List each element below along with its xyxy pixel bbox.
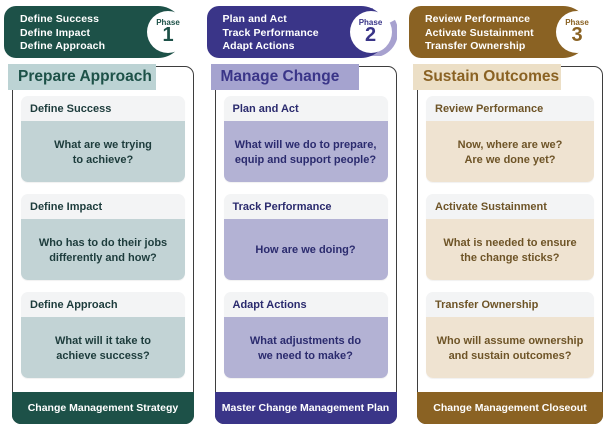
phase-3-card-2-head: Activate Sustainment: [426, 194, 594, 219]
phase-1-card-1-head: Define Success: [21, 96, 185, 121]
phase-3-card-1: Review Performance Now, where are we?Are…: [426, 96, 594, 182]
phase-column-1: Define Success Define Impact Define Appr…: [4, 6, 196, 424]
phase-1-footer: Change Management Strategy: [12, 392, 194, 424]
phase-2-badge-number: 2: [365, 25, 376, 45]
phase-3-footer: Change Management Closeout: [417, 392, 603, 424]
phase-3-card-3-body: Who will assume ownershipand sustain out…: [426, 317, 594, 378]
phase-1-card-list: Define Success What are we tryingto achi…: [21, 96, 185, 378]
phase-2-card-3: Adapt Actions What adjustments dowe need…: [224, 292, 388, 378]
phase-3-card-list: Review Performance Now, where are we?Are…: [426, 96, 594, 378]
phase-2-card-2-body: How are we doing?: [224, 219, 388, 280]
phase-1-card-1-body: What are we tryingto achieve?: [21, 121, 185, 182]
phase-1-card-2: Define Impact Who has to do their jobsdi…: [21, 194, 185, 280]
phase-1-card-3: Define Approach What will it take toachi…: [21, 292, 185, 378]
phase-3-title-strip: Sustain Outcomes: [413, 64, 561, 90]
phase-column-2: Plan and Act Track Performance Adapt Act…: [207, 6, 399, 424]
phase-column-3: Review Performance Activate Sustainment …: [409, 6, 605, 424]
phase-3-card-1-body: Now, where are we?Are we done yet?: [426, 121, 594, 182]
phase-1-card-1: Define Success What are we tryingto achi…: [21, 96, 185, 182]
phase-2-card-2-head: Track Performance: [224, 194, 388, 219]
phase-2-card-1: Plan and Act What will we do to prepare,…: [224, 96, 388, 182]
phase-1-card-3-head: Define Approach: [21, 292, 185, 317]
phase-2-card-1-body: What will we do to prepare,equip and sup…: [224, 121, 388, 182]
phase-2-card-1-head: Plan and Act: [224, 96, 388, 121]
phase-2-footer: Master Change Management Plan: [215, 392, 397, 424]
phase-2-badge: Phase 2: [350, 11, 392, 53]
phase-2-card-3-body: What adjustments dowe need to make?: [224, 317, 388, 378]
change-management-phases-diagram: Define Success Define Impact Define Appr…: [0, 0, 609, 433]
phase-3-badge-number: 3: [571, 25, 582, 45]
phase-1-badge-number: 1: [162, 25, 173, 45]
phase-2-title-strip: Manage Change: [211, 64, 359, 90]
phase-2-title: Manage Change: [221, 68, 340, 86]
phase-3-card-2: Activate Sustainment What is needed to e…: [426, 194, 594, 280]
phase-3-title: Sustain Outcomes: [423, 68, 559, 86]
phase-2-card-2: Track Performance How are we doing?: [224, 194, 388, 280]
phase-1-title-strip: Prepare Approach: [8, 64, 156, 90]
phase-3-badge: Phase 3: [556, 11, 598, 53]
phase-3-card-2-body: What is needed to ensurethe change stick…: [426, 219, 594, 280]
phase-1-card-2-head: Define Impact: [21, 194, 185, 219]
phase-1-card-2-body: Who has to do their jobsdifferently and …: [21, 219, 185, 280]
phase-2-card-3-head: Adapt Actions: [224, 292, 388, 317]
phase-3-card-3-head: Transfer Ownership: [426, 292, 594, 317]
phase-3-card-1-head: Review Performance: [426, 96, 594, 121]
phase-1-badge: Phase 1: [147, 11, 189, 53]
phase-1-title: Prepare Approach: [18, 68, 152, 86]
phase-2-card-list: Plan and Act What will we do to prepare,…: [224, 96, 388, 378]
phase-3-card-3: Transfer Ownership Who will assume owner…: [426, 292, 594, 378]
phase-1-card-3-body: What will it take toachieve success?: [21, 317, 185, 378]
